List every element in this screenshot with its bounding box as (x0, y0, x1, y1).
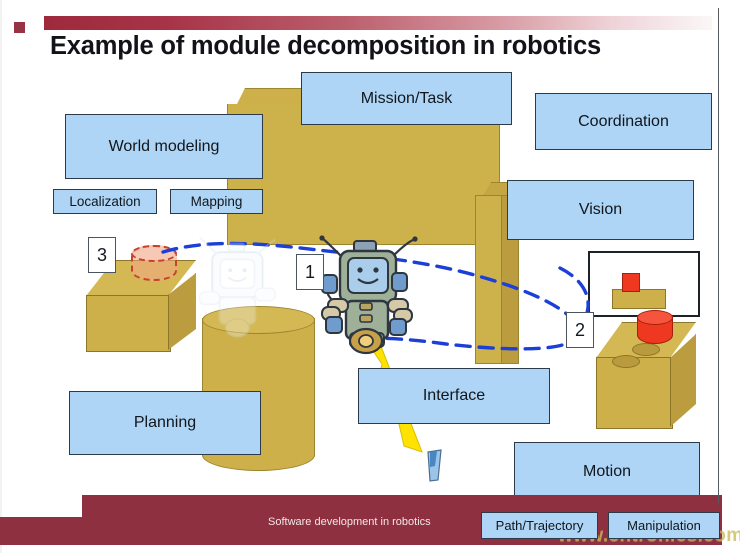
service-robot (319, 235, 417, 353)
slide-left-edge (0, 0, 2, 553)
page-title: Example of module decomposition in robot… (50, 32, 710, 66)
box-hole-b (612, 355, 640, 368)
red-cylinder-object (637, 310, 673, 346)
module-mapping[interactable]: Mapping (170, 189, 263, 214)
module-mission-task[interactable]: Mission/Task (301, 72, 512, 125)
beam-target-highlight (430, 451, 437, 467)
right-box-front-face (596, 357, 673, 429)
callout-2[interactable]: 2 (566, 312, 594, 348)
module-manipulation[interactable]: Manipulation (608, 512, 720, 539)
title-gradient-bar (44, 16, 712, 30)
target-cylinder-dashed-lid-icon (131, 245, 177, 262)
schematic-red-block (622, 273, 640, 292)
cylinder-top (202, 306, 315, 334)
module-coordination[interactable]: Coordination (535, 93, 712, 150)
left-box-front-face (86, 295, 171, 352)
schematic-base-block (612, 289, 666, 309)
beam-target-object (428, 450, 441, 481)
module-localization[interactable]: Localization (53, 189, 157, 214)
callout-1[interactable]: 1 (296, 254, 324, 290)
counter-front-face (227, 104, 500, 245)
module-path-trajectory[interactable]: Path/Trajectory (481, 512, 598, 539)
module-vision[interactable]: Vision (507, 180, 694, 240)
red-cylinder-top (637, 310, 673, 325)
module-world-modeling[interactable]: World modeling (65, 114, 263, 179)
module-interface[interactable]: Interface (358, 368, 550, 424)
callout-3[interactable]: 3 (88, 237, 116, 273)
slide-right-edge-rule (718, 8, 719, 503)
bullet-marker-icon (14, 22, 25, 33)
module-planning[interactable]: Planning (69, 391, 261, 455)
schematic-inset-panel (588, 251, 700, 317)
slide-canvas: Example of module decomposition in robot… (0, 0, 740, 553)
module-motion[interactable]: Motion (514, 442, 700, 502)
